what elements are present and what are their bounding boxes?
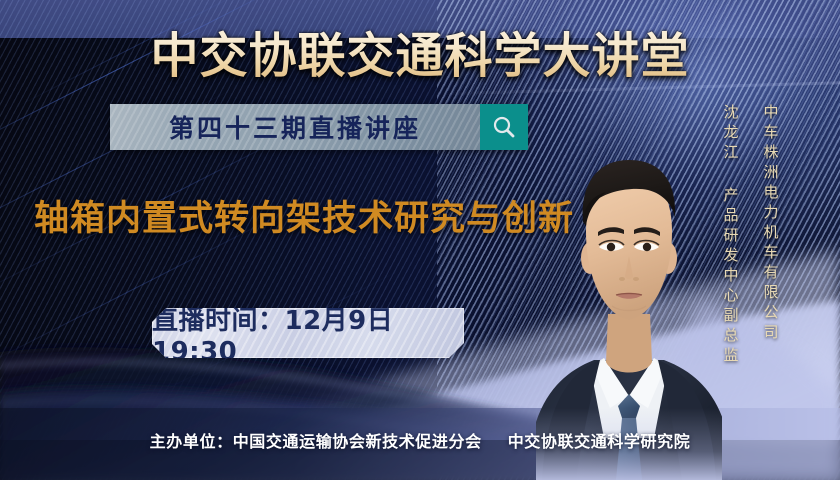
episode-banner: 第四十三期直播讲座 [110, 104, 528, 150]
schedule-pill: 直播时间：12月9日19:30 [152, 308, 464, 358]
schedule-text: 直播时间：12月9日19:30 [152, 308, 464, 358]
speaker-portrait [536, 108, 722, 480]
episode-label-box: 第四十三期直播讲座 [110, 104, 480, 150]
search-icon[interactable] [480, 104, 528, 150]
footer-prefix: 主办单位： [150, 432, 233, 451]
episode-label: 第四十三期直播讲座 [169, 109, 421, 145]
lecture-headline: 轴箱内置式转向架技术研究与创新 [34, 190, 574, 241]
footer-organizer-2: 中交协联交通科学研究院 [508, 432, 691, 451]
livestream-poster: 中交协联交通科学大讲堂 第四十三期直播讲座 轴箱内置式转向架技术研究与创新 直播… [0, 0, 840, 480]
speaker-organization: 中车株洲电力机车有限公司 [762, 104, 779, 344]
page-title: 中交协联交通科学大讲堂 [0, 16, 840, 86]
speaker-name-role: 沈龙江 产品研发中心副总监 [722, 104, 739, 367]
footer-organizers: 主办单位：中国交通运输协会新技术促进分会中交协联交通科学研究院 [0, 428, 840, 452]
footer-organizer-1: 中国交通运输协会新技术促进分会 [233, 432, 482, 451]
